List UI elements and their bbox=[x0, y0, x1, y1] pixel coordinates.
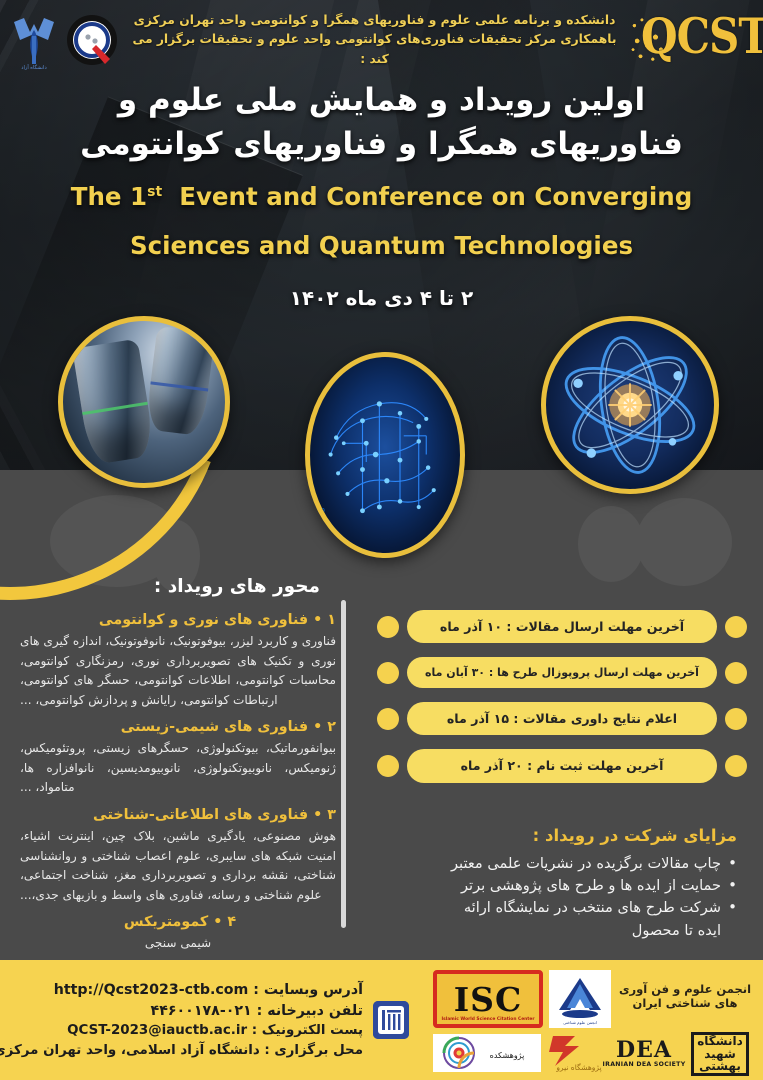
venue-value: دانشگاه آزاد اسلامی، واحد تهران مرکزی bbox=[0, 1043, 260, 1058]
header-logos: دانشگاه آزاد bbox=[0, 10, 128, 70]
bullet-dot-icon bbox=[377, 662, 399, 684]
deadline-pill: آخرین مهلت ثبت نام : ۲۰ آذر ماه bbox=[407, 749, 717, 782]
dea-logo-subtitle: IRANIAN DEA SOCIETY bbox=[603, 1061, 686, 1068]
title-english-ordinal-suffix: st bbox=[147, 184, 162, 200]
svg-text:دانشگاه آزاد: دانشگاه آزاد bbox=[21, 64, 46, 70]
topic-number: ۲ bbox=[327, 719, 336, 735]
topic-item: ۲ • فناوری های شیمی-زیستی بیوانفورماتیک،… bbox=[12, 719, 336, 798]
deadline-row: آخرین مهلت ارسال مقالات : ۱۰ آذر ماه bbox=[377, 610, 747, 643]
website-line[interactable]: آدرس وبسایت : http://Qcst2023-ctb.com bbox=[0, 980, 363, 1001]
organizer-text: دانشکده و برنامه علمی علوم و فناوریهای ه… bbox=[128, 11, 629, 68]
conference-poster: QCST دانشکده و برنامه علمی علوم و فناوری… bbox=[0, 0, 763, 1080]
isc-logo-subtitle: Islamic World Science Citation Center bbox=[437, 1017, 539, 1022]
topic-item: ۱ • فناوری های نوری و کوانتومی فناوری و … bbox=[12, 612, 336, 710]
deadlines-section: آخرین مهلت ارسال مقالات : ۱۰ آذر ماه آخر… bbox=[361, 610, 763, 797]
topic-title: ۴ • کمومتریکس bbox=[12, 914, 336, 930]
website-icon bbox=[373, 1001, 409, 1039]
sponsor-logos: ISC Islamic World Science Citation Cente… bbox=[423, 960, 763, 1080]
bullet-dot-icon bbox=[377, 708, 399, 730]
title-farsi-line-2: فناوریهای همگرا و فناوریهای کوانتومی bbox=[0, 122, 763, 166]
topic-label: کمومتریکس bbox=[124, 914, 208, 930]
email-address[interactable]: QCST-2023@iauctb.ac.ir bbox=[67, 1023, 247, 1038]
deadline-row: آخرین مهلت ارسال پروپوزال طرح ها : ۳۰ آب… bbox=[377, 657, 747, 688]
svg-text:0110: 0110 bbox=[310, 507, 325, 515]
topic-item: ۳ • فناوری های اطلاعاتی-شناختی هوش مصنوع… bbox=[12, 807, 336, 905]
benefit-item: چاپ مقالات برگزیده در نشریات علمی معتبر bbox=[373, 853, 737, 875]
qcst-logo-text: QCST bbox=[641, 8, 763, 64]
topic-label: فناوری های نوری و کوانتومی bbox=[99, 612, 308, 628]
cognitive-society-logo-icon: انجمن علوم شناختی bbox=[549, 970, 611, 1028]
topic-title: ۳ • فناوری های اطلاعاتی-شناختی bbox=[12, 807, 336, 823]
deadline-row: اعلام نتایج داوری مقالات : ۱۵ آذر ماه bbox=[377, 702, 747, 735]
topic-number: ۳ bbox=[327, 807, 336, 823]
benefits-section: مزایای شرکت در رویداد : چاپ مقالات برگزی… bbox=[361, 826, 763, 942]
title-english-rest: Event and Conference on Converging bbox=[179, 182, 692, 211]
deadline-pill: آخرین مهلت ارسال پروپوزال طرح ها : ۳۰ آب… bbox=[407, 657, 717, 688]
poster-header: QCST دانشکده و برنامه علمی علوم و فناوری… bbox=[0, 0, 763, 80]
poster-footer: ISC Islamic World Science Citation Cente… bbox=[0, 960, 763, 1080]
title-english-line-2: Sciences and Quantum Technologies bbox=[0, 229, 763, 264]
topics-section: محور های رویداد : ۱ • فناوری های نوری و … bbox=[0, 576, 352, 963]
topic-number: ۱ bbox=[327, 612, 336, 628]
benefit-item: شرکت طرح های منتخب در نمایشگاه ارائه bbox=[373, 897, 737, 919]
iran-institute-logo-icon: پژوهشکده bbox=[433, 1034, 541, 1072]
title-english-line-1: The 1st Event and Conference on Convergi… bbox=[0, 180, 763, 215]
phone-label: تلفن دبیرخانه : bbox=[257, 1003, 363, 1019]
microscope-objectives-photo bbox=[58, 316, 230, 488]
svg-text:0100: 0100 bbox=[310, 516, 323, 524]
topic-body: فناوری و کاربرد لیزر، بیوفوتونیک، نانوفو… bbox=[12, 632, 336, 710]
event-date: ۲ تا ۴ دی ماه ۱۴۰۲ bbox=[0, 286, 763, 310]
title-english-prefix: The 1 bbox=[71, 182, 147, 211]
azad-university-logo-icon: دانشگاه آزاد bbox=[10, 10, 58, 70]
topic-body: هوش مصنوعی، یادگیری ماشین، بلاک چین، این… bbox=[12, 827, 336, 905]
topic-item: ۴ • کمومتریکس شیمی سنجی bbox=[12, 914, 336, 954]
bullet-dot-icon bbox=[725, 755, 747, 777]
beheshti-logo-text: دانشگاه شهید بهشتی bbox=[694, 1035, 746, 1073]
deadline-row: آخرین مهلت ثبت نام : ۲۰ آذر ماه bbox=[377, 749, 747, 782]
benefit-continuation: ایده تا محصول bbox=[373, 920, 737, 942]
shahid-beheshti-university-logo: دانشگاه شهید بهشتی bbox=[691, 1032, 749, 1076]
topic-title: ۲ • فناوری های شیمی-زیستی bbox=[12, 719, 336, 735]
benefits-heading: مزایای شرکت در رویداد : bbox=[373, 826, 737, 845]
bullet-dot-icon bbox=[725, 616, 747, 638]
svg-text:1001: 1001 bbox=[310, 535, 321, 543]
bullet-dot-icon bbox=[725, 708, 747, 730]
niroo-research-institute-logo-icon: پژوهشگاه نیرو bbox=[545, 1032, 609, 1074]
email-line[interactable]: پست الکترونیک : QCST-2023@iauctb.ac.ir bbox=[0, 1021, 363, 1040]
venue-label: محل برگزاری : bbox=[264, 1043, 363, 1058]
topic-body: شیمی سنجی bbox=[12, 934, 336, 954]
website-label: آدرس وبسایت : bbox=[253, 982, 363, 998]
topic-label: فناوری های اطلاعاتی-شناختی bbox=[93, 807, 308, 823]
dea-society-logo: DEA IRANIAN DEA SOCIETY bbox=[601, 1036, 687, 1072]
topic-title: ۱ • فناوری های نوری و کوانتومی bbox=[12, 612, 336, 628]
email-label: پست الکترونیک : bbox=[252, 1023, 363, 1038]
bullet-dot-icon bbox=[377, 755, 399, 777]
qcst-logo: QCST bbox=[629, 4, 759, 76]
benefit-item: حمایت از ایده ها و طرح های پژوهشی برتر bbox=[373, 875, 737, 897]
column-divider bbox=[341, 600, 346, 928]
deadline-pill: آخرین مهلت ارسال مقالات : ۱۰ آذر ماه bbox=[407, 610, 717, 643]
organizer-line-1: دانشکده و برنامه علمی علوم و فناوریهای ه… bbox=[128, 11, 621, 30]
svg-text:پژوهشکده: پژوهشکده bbox=[490, 1051, 525, 1060]
deadline-pill: اعلام نتایج داوری مقالات : ۱۵ آذر ماه bbox=[407, 702, 717, 735]
isc-logo-text: ISC bbox=[454, 983, 523, 1016]
venue-line: محل برگزاری : دانشگاه آزاد اسلامی، واحد … bbox=[0, 1041, 363, 1060]
title-farsi-line-1: اولین رویداد و همایش ملی علوم و bbox=[0, 78, 763, 122]
bullet-dot-icon bbox=[377, 616, 399, 638]
phone-line: تلفن دبیرخانه : ۰۲۱-۴۴۶۰۰۱۷۸ bbox=[0, 1001, 363, 1022]
bullet-dot-icon bbox=[725, 662, 747, 684]
topics-heading: محور های رویداد : bbox=[12, 576, 336, 597]
organizer-line-2: باهمکاری مرکز تحقیقات فناوری‌های کوانتوم… bbox=[128, 30, 621, 68]
topic-label: فناوری های شیمی-زیستی bbox=[121, 719, 308, 735]
svg-text:انجمن علوم شناختی: انجمن علوم شناختی bbox=[563, 1020, 597, 1025]
topic-number: ۴ bbox=[227, 914, 236, 930]
website-url[interactable]: http://Qcst2023-ctb.com bbox=[54, 982, 249, 998]
circuit-brain-photo: 0110 0100 1001 1001 bbox=[305, 352, 465, 558]
svg-text:پژوهشگاه نیرو: پژوهشگاه نیرو bbox=[555, 1063, 601, 1072]
title-block: اولین رویداد و همایش ملی علوم و فناوریها… bbox=[0, 78, 763, 310]
topic-body: بیوانفورماتیک، بیوتکنولوژی، حسگرهای زیست… bbox=[12, 739, 336, 798]
svg-text:1001: 1001 bbox=[311, 525, 327, 533]
atom-orbitals-photo bbox=[541, 316, 719, 494]
dea-logo-text: DEA bbox=[616, 1040, 672, 1060]
isc-logo: ISC Islamic World Science Citation Cente… bbox=[433, 970, 543, 1028]
contact-info: آدرس وبسایت : http://Qcst2023-ctb.com تل… bbox=[0, 960, 423, 1080]
contact-lines: آدرس وبسایت : http://Qcst2023-ctb.com تل… bbox=[0, 980, 363, 1060]
phone-number: ۰۲۱-۴۴۶۰۰۱۷۸ bbox=[151, 1003, 252, 1019]
cognitive-society-label: انجمن علوم و فن آوری های شناختی ایران bbox=[615, 982, 755, 1010]
quantum-research-center-logo-icon bbox=[66, 14, 118, 66]
